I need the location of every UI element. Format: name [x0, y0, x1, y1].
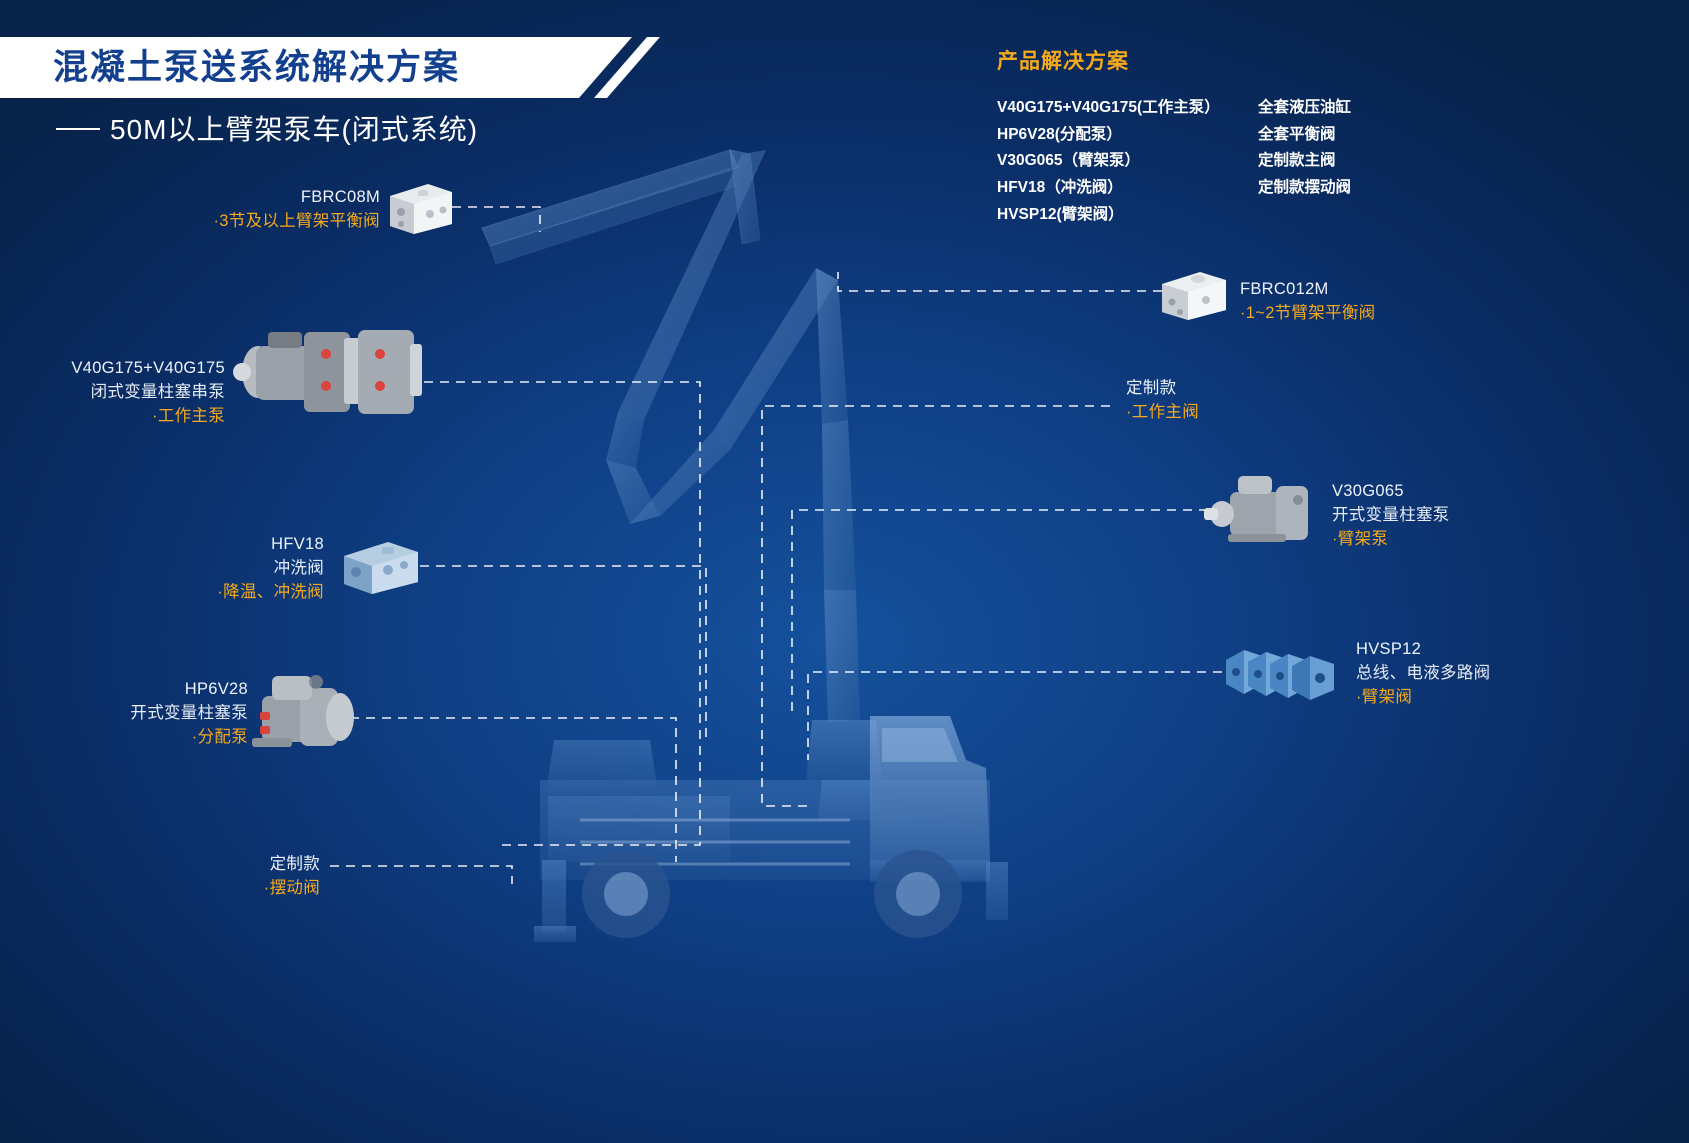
callout-swing-valve: 定制款 ·摆动阀: [130, 853, 320, 901]
page-title: 混凝土泵送系统解决方案: [53, 46, 460, 90]
part-image-v30g065: [1204, 470, 1320, 550]
callout-highlight: ·摆动阀: [130, 877, 320, 901]
poster-canvas: 混凝土泵送系统解决方案 50M以上臂架泵车(闭式系统) 产品解决方案 V40G1…: [0, 0, 1689, 1143]
callout-highlight: ·降温、冲洗阀: [110, 581, 324, 605]
callout-code: 定制款: [1126, 377, 1199, 401]
solution-item: HP6V28(分配泵）: [997, 122, 1220, 149]
callout-desc: 开式变量柱塞泵: [1332, 504, 1450, 528]
callout-hvsp12: HVSP12 总线、电液多路阀 ·臂架阀: [1356, 638, 1490, 710]
part-image-hfv18: [338, 538, 422, 598]
solution-item: 全套液压油缸: [1258, 95, 1351, 122]
part-image-fbrc012m: [1158, 268, 1230, 324]
solution-item: 定制款摆动阀: [1258, 175, 1351, 202]
callout-desc: 冲洗阀: [110, 557, 324, 581]
callout-highlight: ·工作主泵: [10, 405, 225, 429]
page-subtitle: 50M以上臂架泵车(闭式系统): [56, 112, 478, 148]
solution-left-column: V40G175+V40G175(工作主泵） HP6V28(分配泵） V30G06…: [997, 95, 1220, 229]
callout-code: HFV18: [110, 533, 324, 557]
callout-code: FBRC08M: [150, 186, 380, 210]
callout-desc: 开式变量柱塞泵: [30, 702, 248, 726]
solution-right-column: 全套液压油缸 全套平衡阀 定制款主阀 定制款摆动阀: [1258, 95, 1351, 202]
solution-item: V40G175+V40G175(工作主泵）: [997, 95, 1220, 122]
callout-fbrc012m: FBRC012M ·1~2节臂架平衡阀: [1240, 278, 1375, 326]
callout-code: HVSP12: [1356, 638, 1490, 662]
callout-highlight: ·3节及以上臂架平衡阀: [150, 210, 380, 234]
part-image-hvsp12: [1222, 634, 1342, 710]
solution-item: HFV18（冲洗阀）: [997, 175, 1220, 202]
callout-highlight: ·臂架泵: [1332, 528, 1450, 552]
subtitle-dash: [56, 128, 100, 130]
subtitle-text: 50M以上臂架泵车(闭式系统): [110, 114, 478, 145]
callout-hfv18: HFV18 冲洗阀 ·降温、冲洗阀: [110, 533, 324, 605]
callout-main-valve: 定制款 ·工作主阀: [1126, 377, 1199, 425]
callout-fbrc08m: FBRC08M ·3节及以上臂架平衡阀: [150, 186, 380, 234]
solution-panel-title: 产品解决方案: [997, 45, 1129, 75]
part-image-v40g175: [228, 310, 428, 435]
solution-item: 定制款主阀: [1258, 148, 1351, 175]
callout-highlight: ·臂架阀: [1356, 686, 1490, 710]
callout-code: FBRC012M: [1240, 278, 1375, 302]
part-image-fbrc08m: [384, 180, 456, 238]
callout-v30g065: V30G065 开式变量柱塞泵 ·臂架泵: [1332, 480, 1450, 552]
solution-item: 全套平衡阀: [1258, 122, 1351, 149]
callout-code: V30G065: [1332, 480, 1450, 504]
callout-desc: 总线、电液多路阀: [1356, 662, 1490, 686]
part-image-hp6v28: [248, 662, 356, 756]
callout-hp6v28: HP6V28 开式变量柱塞泵 ·分配泵: [30, 678, 248, 750]
banner-slashes: [585, 37, 680, 98]
pump-truck-illustration: [430, 120, 1170, 960]
callout-highlight: ·工作主阀: [1126, 401, 1199, 425]
callout-highlight: ·1~2节臂架平衡阀: [1240, 302, 1375, 326]
callout-code: HP6V28: [30, 678, 248, 702]
callout-code: 定制款: [130, 853, 320, 877]
solution-item: V30G065（臂架泵）: [997, 148, 1220, 175]
callout-highlight: ·分配泵: [30, 726, 248, 750]
solution-item: HVSP12(臂架阀）: [997, 202, 1220, 229]
callout-code: V40G175+V40G175: [10, 357, 225, 381]
callout-v40g175: V40G175+V40G175 闭式变量柱塞串泵 ·工作主泵: [10, 357, 225, 429]
callout-desc: 闭式变量柱塞串泵: [10, 381, 225, 405]
